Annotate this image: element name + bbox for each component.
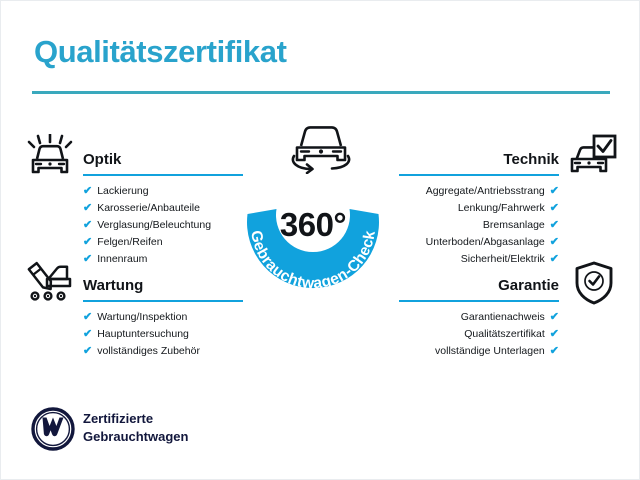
list-item-label: Wartung/Inspektion (97, 309, 187, 326)
list-item: ✔ vollständiges Zubehör (83, 343, 263, 360)
list-item-label: Garantienachweis (461, 309, 545, 326)
check-icon: ✔ (550, 237, 559, 248)
list-item: Qualitätszertifikat ✔ (379, 326, 559, 343)
check-icon: ✔ (550, 220, 559, 231)
check-icon: ✔ (550, 186, 559, 197)
page-title: Qualitätszertifikat (34, 34, 287, 70)
section-heading-optik: Optik (83, 151, 121, 168)
car-front-rotate-icon (285, 118, 357, 174)
check-icon: ✔ (550, 346, 559, 357)
check-icon: ✔ (83, 346, 92, 357)
shield-check-icon (571, 260, 617, 306)
section-rule-optik (83, 174, 243, 176)
brand-claim-line2: Gebrauchtwagen (83, 428, 188, 446)
list-item: ✔ Hauptuntersuchung (83, 326, 263, 343)
list-item-label: vollständige Unterlagen (435, 343, 545, 360)
vw-logo (31, 407, 75, 451)
list-item: Bremsanlage ✔ (379, 217, 559, 234)
check-icon: ✔ (550, 203, 559, 214)
list-item-label: Aggregate/Antriebsstrang (426, 183, 545, 200)
list-item: Unterboden/Abgasanlage ✔ (379, 234, 559, 251)
badge-center-label: 360° (230, 206, 396, 244)
check-icon: ✔ (83, 203, 92, 214)
list-item-label: Innenraum (97, 251, 147, 268)
list-item: ✔ Wartung/Inspektion (83, 309, 263, 326)
list-item-label: Felgen/Reifen (97, 234, 162, 251)
check-icon: ✔ (83, 312, 92, 323)
check-icon: ✔ (83, 186, 92, 197)
section-heading-technik: Technik (399, 151, 559, 168)
list-item-label: Qualitätszertifikat (464, 326, 545, 343)
list-item-label: Verglasung/Beleuchtung (97, 217, 211, 234)
certificate-page: Qualitätszertifikat Optik ✔ Lackierung ✔ (0, 0, 640, 480)
section-heading-garantie: Garantie (399, 277, 559, 294)
checklist-wartung: ✔ Wartung/Inspektion ✔ Hauptuntersuchung… (83, 309, 263, 360)
check-icon: ✔ (550, 329, 559, 340)
list-item-label: Lackierung (97, 183, 148, 200)
section-rule-wartung (83, 300, 243, 302)
check-icon: ✔ (83, 329, 92, 340)
check-icon: ✔ (550, 254, 559, 265)
check-icon: ✔ (83, 220, 92, 231)
list-item: Garantienachweis ✔ (379, 309, 559, 326)
section-rule-garantie (399, 300, 559, 302)
list-item-label: Sicherheit/Elektrik (461, 251, 545, 268)
list-item-label: Lenkung/Fahrwerk (458, 200, 545, 217)
list-item-label: Bremsanlage (483, 217, 545, 234)
header-divider (32, 91, 610, 94)
brand-claim: Zertifizierte Gebrauchtwagen (83, 410, 188, 446)
list-item-label: Karosserie/Anbauteile (97, 200, 200, 217)
list-item: vollständige Unterlagen ✔ (379, 343, 559, 360)
list-item-label: vollständiges Zubehör (97, 343, 200, 360)
section-rule-technik (399, 174, 559, 176)
list-item-label: Hauptuntersuchung (97, 326, 189, 343)
list-item: Sicherheit/Elektrik ✔ (379, 251, 559, 268)
list-item-label: Unterboden/Abgasanlage (426, 234, 545, 251)
check-icon: ✔ (83, 254, 92, 265)
checklist-technik: Aggregate/Antriebsstrang ✔ Lenkung/Fahrw… (379, 183, 559, 268)
car-checkbox-icon (567, 134, 617, 178)
brand-claim-line1: Zertifizierte (83, 410, 188, 428)
car-polish-icon (25, 134, 75, 178)
section-heading-wartung: Wartung (83, 277, 143, 294)
list-item: Lenkung/Fahrwerk ✔ (379, 200, 559, 217)
list-item: Aggregate/Antriebsstrang ✔ (379, 183, 559, 200)
service-pen-car-icon (25, 260, 75, 304)
check-icon: ✔ (550, 312, 559, 323)
check-icon: ✔ (83, 237, 92, 248)
checklist-garantie: Garantienachweis ✔ Qualitätszertifikat ✔… (379, 309, 559, 360)
